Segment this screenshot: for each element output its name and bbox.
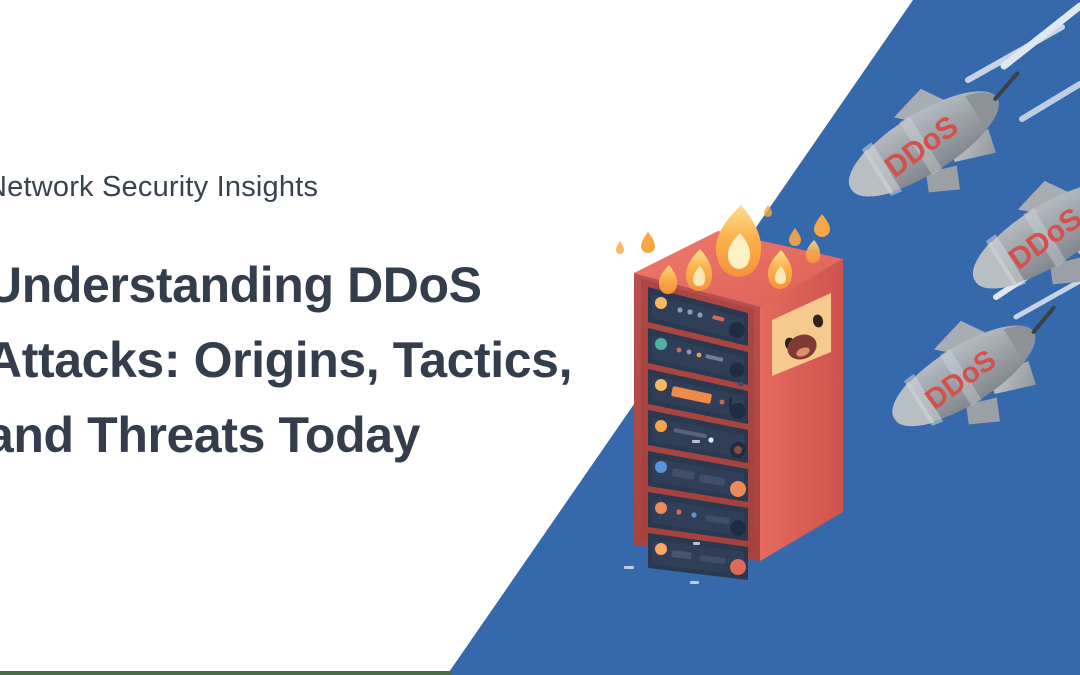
page-title: Understanding DDoS Attacks: Origins, Tac… (0, 248, 646, 473)
speck-3 (692, 440, 700, 443)
hero-text-block: Network Security Insights Understanding … (0, 168, 646, 507)
speck-1 (624, 566, 634, 569)
speck-2 (690, 581, 699, 584)
headline-line-3: and Threats Today (0, 398, 646, 473)
headline-line-2: Attacks: Origins, Tactics, (0, 323, 646, 398)
hero-kicker: Network Security Insights (0, 168, 646, 206)
speck-4 (693, 542, 700, 545)
headline-line-1: Understanding DDoS (0, 248, 646, 323)
hero-banner: DDoS DDoS (0, 0, 1080, 675)
bottom-accent-rule (0, 671, 452, 675)
